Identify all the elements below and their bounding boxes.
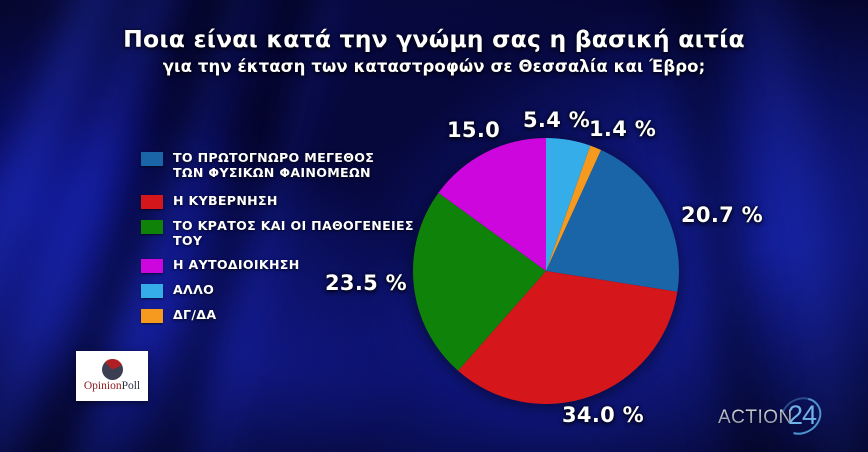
page-title: Ποια είναι κατά την γνώμη σας η βασική α… [0, 26, 868, 52]
legend-label-0: ΤΟ ΠΡΩΤΟΓΝΩΡΟ ΜΕΓΕΘΟΣ ΤΩΝ ΦΥΣΙΚΩΝ ΦΑΙΝΟΜ… [173, 150, 374, 181]
action24-number: 24 [788, 400, 816, 431]
opinionpoll-wedge [102, 359, 123, 380]
opinionpoll-word-opinion: Opinion [84, 380, 122, 392]
opinionpoll-logo: OpinionPoll [76, 351, 148, 401]
legend-swatch-4 [141, 284, 163, 298]
page-subtitle: για την έκταση των καταστροφών σε Θεσσαλ… [0, 57, 868, 76]
pie-label-kyvernisi: 34.0 % [562, 403, 644, 427]
pie-label-allo: 5.4 % [523, 108, 590, 132]
legend-swatch-2 [141, 220, 163, 234]
legend-label-4: ΑΛΛΟ [173, 282, 214, 297]
legend-label-2: ΤΟ ΚΡΑΤΟΣ ΚΑΙ ΟΙ ΠΑΘΟΓΕΝΕΙΕΣ ΤΟΥ [173, 218, 441, 249]
action24-logo: ACTION 24 [718, 398, 842, 434]
pie-label-prwtognwro: 20.7 % [681, 203, 763, 227]
legend-label-3: Η ΑΥΤΟΔΙΟΙΚΗΣΗ [173, 257, 300, 272]
legend-label-1: Η ΚΥΒΕΡΝΗΣΗ [173, 193, 278, 208]
chart-title-block: Ποια είναι κατά την γνώμη σας η βασική α… [0, 26, 868, 76]
legend-swatch-3 [141, 259, 163, 273]
legend-item-0[interactable]: ΤΟ ΠΡΩΤΟΓΝΩΡΟ ΜΕΓΕΘΟΣ ΤΩΝ ΦΥΣΙΚΩΝ ΦΑΙΝΟΜ… [141, 150, 441, 181]
legend-swatch-1 [141, 195, 163, 209]
chart-legend: ΤΟ ΠΡΩΤΟΓΝΩΡΟ ΜΕΓΕΘΟΣ ΤΩΝ ΦΥΣΙΚΩΝ ΦΑΙΝΟΜ… [141, 150, 441, 332]
pie-label-dgda: 1.4 % [589, 117, 656, 141]
legend-item-1[interactable]: Η ΚΥΒΕΡΝΗΣΗ [141, 193, 441, 209]
legend-item-5[interactable]: ΔΓ/ΔΑ [141, 307, 441, 323]
legend-swatch-5 [141, 309, 163, 323]
legend-label-5: ΔΓ/ΔΑ [173, 307, 216, 322]
pie-chart [412, 137, 680, 405]
legend-item-2[interactable]: ΤΟ ΚΡΑΤΟΣ ΚΑΙ ΟΙ ΠΑΘΟΓΕΝΕΙΕΣ ΤΟΥ [141, 218, 441, 249]
legend-swatch-0 [141, 152, 163, 166]
pie-label-kratos: 23.5 % [325, 271, 407, 295]
opinionpoll-mark-icon [102, 359, 123, 380]
pie-label-aytodioikisi: 15.0 [447, 118, 500, 142]
pie-chart-svg [412, 137, 680, 405]
opinionpoll-word-poll: Poll [122, 380, 141, 392]
opinionpoll-wordmark: OpinionPoll [84, 381, 140, 393]
